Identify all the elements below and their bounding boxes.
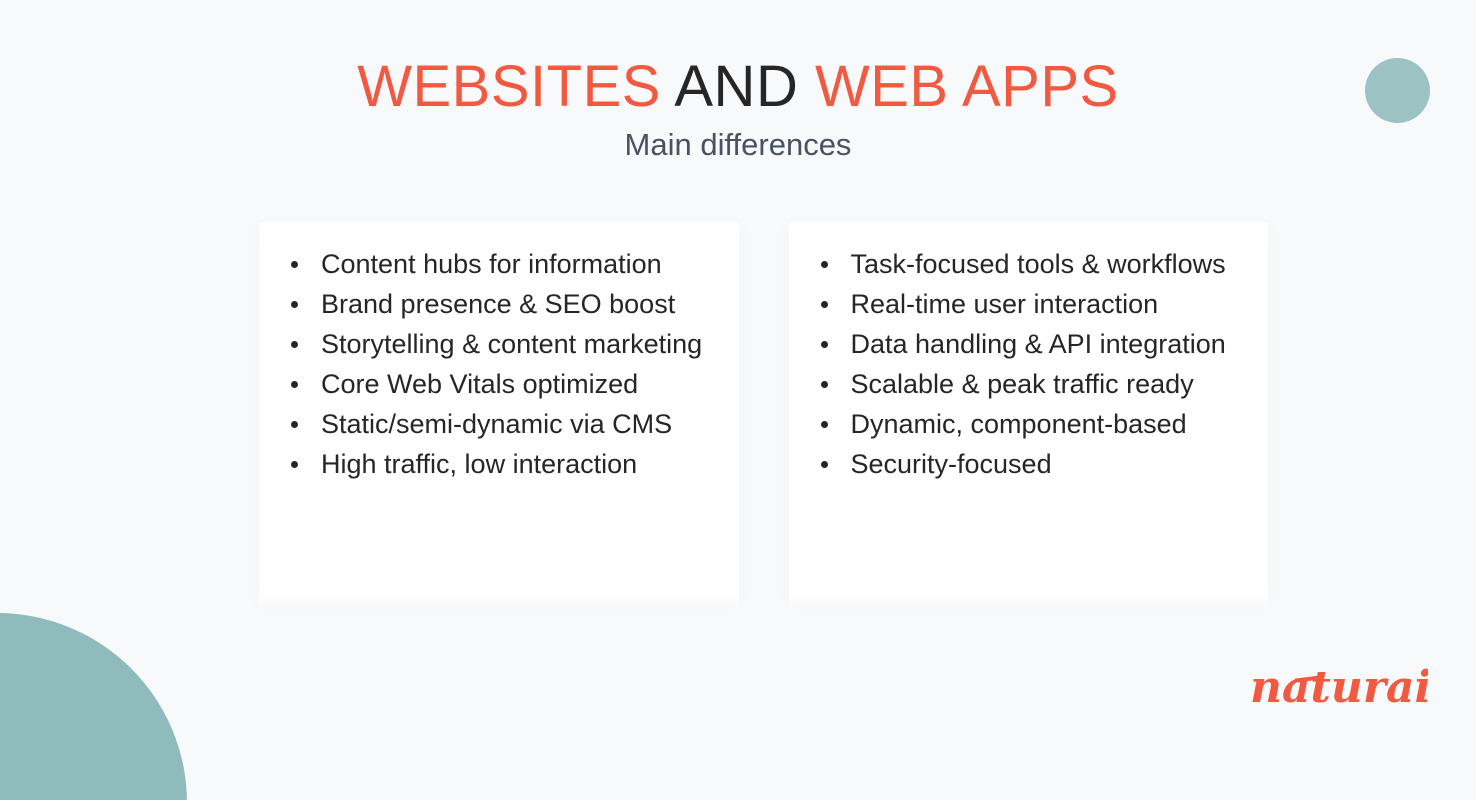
list-item: Storytelling & content marketing bbox=[269, 324, 729, 364]
title-part-web-apps: WEB APPS bbox=[815, 54, 1119, 119]
logo-text: naturaily bbox=[1250, 662, 1428, 713]
websites-card: Content hubs for information Brand prese… bbox=[259, 222, 739, 596]
decorative-quarter-circle-bottom-left bbox=[0, 613, 187, 800]
title-part-websites: WEBSITES bbox=[357, 54, 661, 119]
page-title: WEBSITES AND WEB APPS bbox=[0, 52, 1476, 122]
list-item: Security-focused bbox=[799, 444, 1259, 484]
slide-canvas: WEBSITES AND WEB APPS Main differences C… bbox=[0, 0, 1476, 800]
slide-header: WEBSITES AND WEB APPS Main differences bbox=[0, 52, 1476, 165]
list-item: Static/semi-dynamic via CMS bbox=[269, 404, 729, 444]
list-item: High traffic, low interaction bbox=[269, 444, 729, 484]
websites-bullet-list: Content hubs for information Brand prese… bbox=[269, 244, 729, 484]
list-item: Scalable & peak traffic ready bbox=[799, 364, 1259, 404]
naturaily-wordmark-icon: naturaily bbox=[1248, 650, 1428, 722]
web-apps-card: Task-focused tools & workflows Real-time… bbox=[789, 222, 1269, 596]
list-item: Task-focused tools & workflows bbox=[799, 244, 1259, 284]
title-part-and: AND bbox=[674, 54, 798, 119]
list-item: Content hubs for information bbox=[269, 244, 729, 284]
list-item: Core Web Vitals optimized bbox=[269, 364, 729, 404]
naturaily-logo: naturaily bbox=[1248, 650, 1428, 722]
web-apps-bullet-list: Task-focused tools & workflows Real-time… bbox=[799, 244, 1259, 484]
list-item: Real-time user interaction bbox=[799, 284, 1259, 324]
list-item: Dynamic, component-based bbox=[799, 404, 1259, 444]
page-subtitle: Main differences bbox=[0, 125, 1476, 165]
list-item: Brand presence & SEO boost bbox=[269, 284, 729, 324]
comparison-cards: Content hubs for information Brand prese… bbox=[259, 222, 1268, 596]
list-item: Data handling & API integration bbox=[799, 324, 1259, 364]
